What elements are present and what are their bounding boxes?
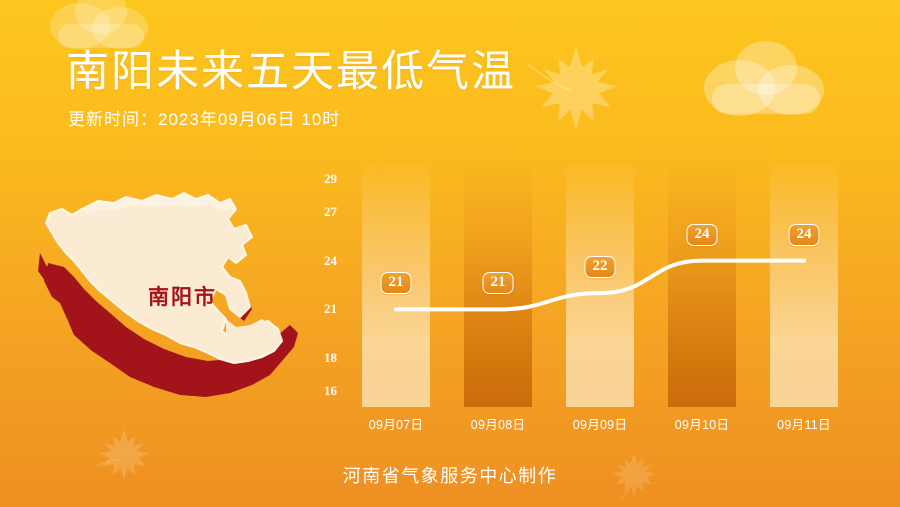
y-axis-tick: 27 — [324, 204, 337, 220]
page-title: 南阳未来五天最低气温 — [66, 48, 516, 97]
y-axis-tick: 21 — [324, 301, 337, 317]
x-axis-tick: 09月09日 — [573, 414, 628, 433]
x-axis: 09月07日09月08日09月09日09月10日09月11日 — [345, 409, 855, 435]
cloud-icon — [698, 30, 834, 122]
y-axis-tick: 29 — [324, 171, 337, 187]
weather-infographic: 南阳未来五天最低气温 更新时间：2023年09月06日 10时 南阳市 1618… — [0, 0, 900, 507]
y-axis-tick: 16 — [324, 383, 337, 399]
data-point-label: 22 — [585, 256, 616, 278]
y-axis-tick: 18 — [324, 350, 337, 366]
x-axis-tick: 09月11日 — [777, 414, 831, 433]
update-time-label: 更新时间：2023年09月06日 10时 — [68, 105, 340, 130]
data-point-label: 24 — [687, 224, 718, 246]
data-point-label: 21 — [381, 272, 412, 294]
footer-credit: 河南省气象服务中心制作 — [0, 462, 900, 488]
data-point-label: 21 — [483, 272, 514, 294]
maple-leaf-icon — [528, 44, 624, 134]
map-region-label: 南阳市 — [148, 281, 217, 311]
temperature-line — [345, 155, 855, 435]
y-axis-tick: 24 — [324, 253, 337, 269]
x-axis-tick: 09月08日 — [471, 414, 526, 433]
x-axis-tick: 09月10日 — [675, 414, 730, 433]
cloud-icon — [46, 0, 156, 50]
data-point-label: 24 — [789, 224, 820, 246]
temperature-chart: 161821242729 09月07日09月08日09月09日09月10日09月… — [345, 155, 855, 435]
x-axis-tick: 09月07日 — [369, 414, 424, 433]
